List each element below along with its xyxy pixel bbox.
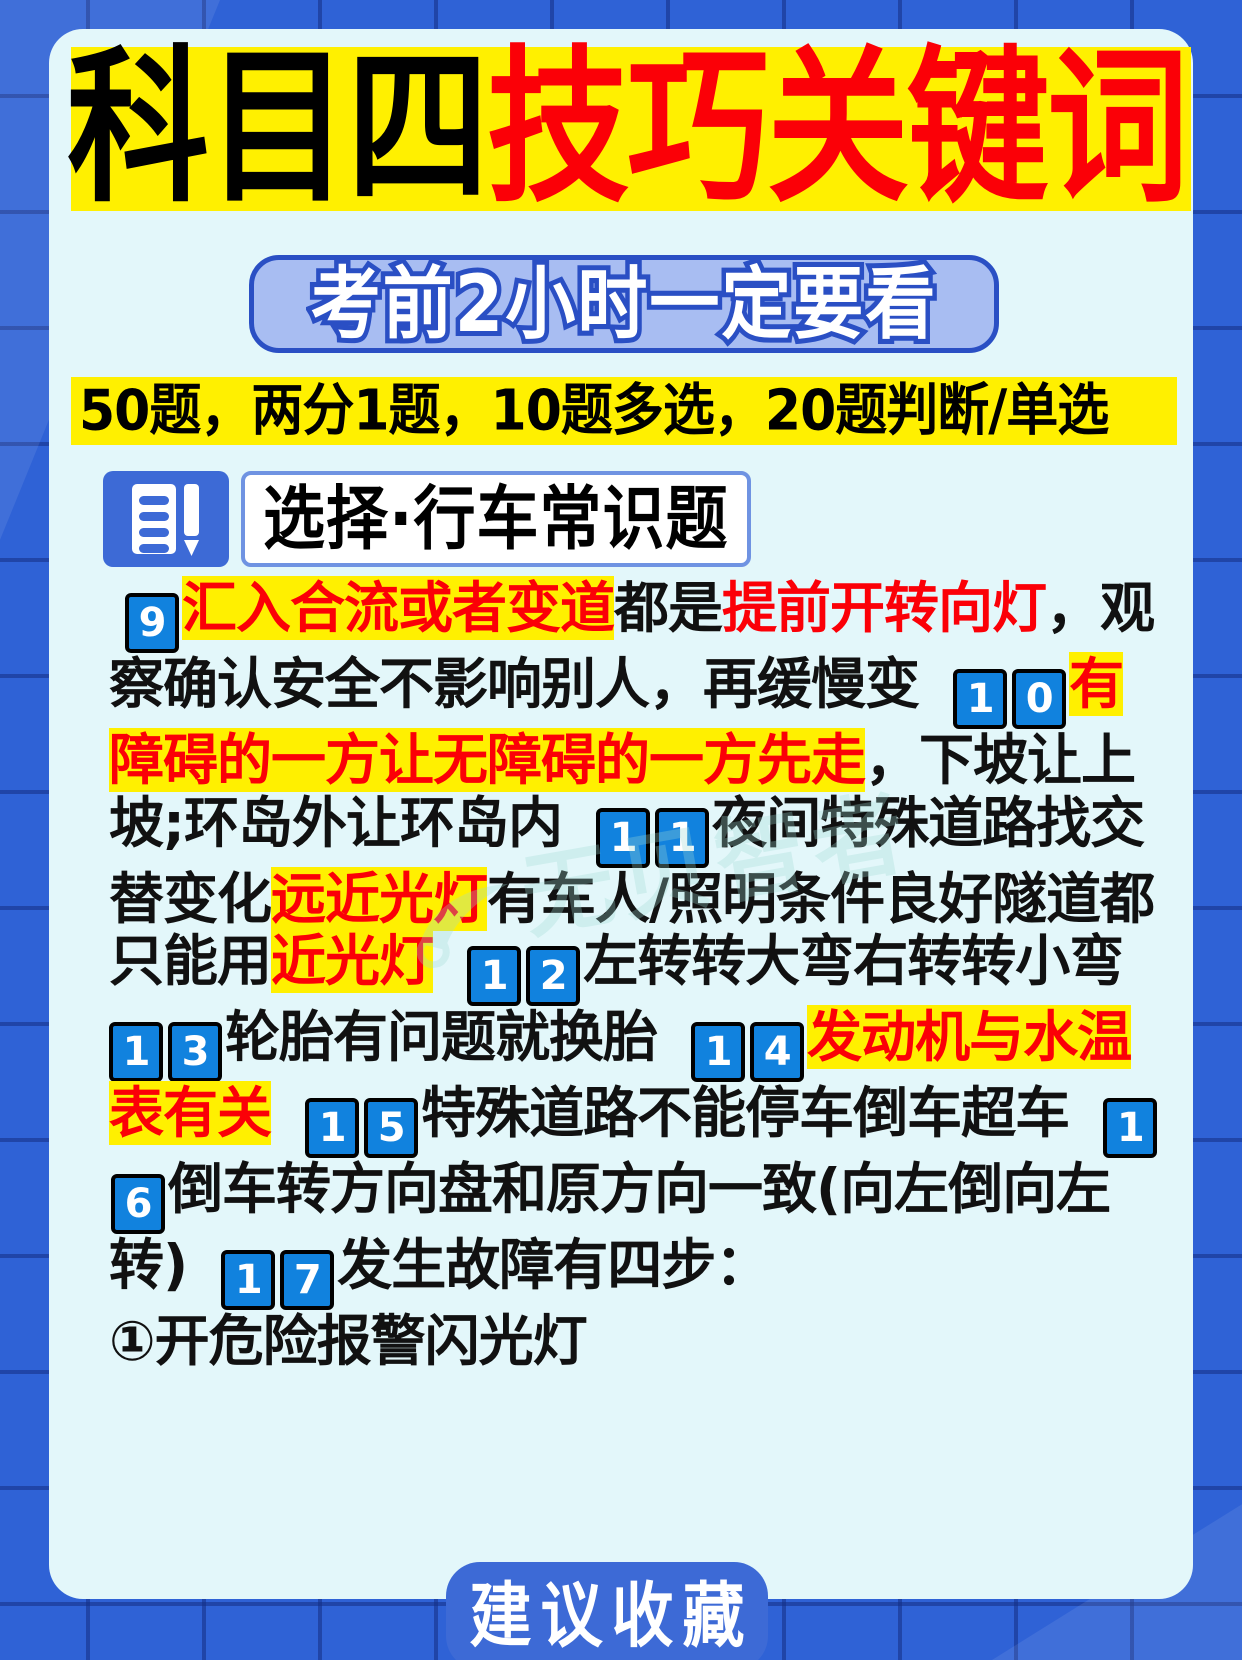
tip-text-segment: 近光灯 (271, 929, 433, 993)
item-number-badge: 1 (305, 1098, 359, 1158)
section-title-text: 选择·行车常识题 (263, 484, 729, 553)
item-number-badge: 1 (221, 1250, 275, 1310)
item-number-badge: 9 (125, 593, 179, 653)
poster-title: 科目四技巧关键词 (71, 47, 1191, 211)
tip-text-segment: 轮胎有问题就换胎 (225, 1005, 657, 1069)
subtitle-text: 考前2小时一定要看 (311, 265, 938, 343)
title-subject: 科目四 (67, 45, 487, 213)
tip-text-segment: 特殊道路不能停车倒车超车 (421, 1081, 1069, 1145)
item-number-badge: 4 (750, 1022, 804, 1082)
tips-paragraph: 9汇入合流或者变道都是提前开转向灯，观察确认安全不影响别人，再缓慢变 10有障碍… (109, 577, 1174, 1373)
tip-text-segment: 发生故障有四步： (337, 1233, 769, 1297)
save-suggestion-button[interactable]: 建议收藏 (446, 1562, 768, 1660)
save-suggestion-label: 建议收藏 (469, 1581, 753, 1652)
item-number-badge: 1 (596, 808, 650, 868)
tip-text-segment: ①开危险报警闪光灯 (109, 1309, 587, 1373)
content-card: 科目四技巧关键词 考前2小时一定要看 50题，两分1题，10题多选，20题判断/… (49, 29, 1193, 1599)
tips-list: 9汇入合流或者变道都是提前开转向灯，观察确认安全不影响别人，再缓慢变 10有障碍… (109, 577, 1174, 1373)
section-header: 选择·行车常识题 (103, 471, 751, 567)
item-number-badge: 2 (526, 946, 580, 1006)
item-number-badge: 6 (111, 1174, 165, 1234)
tip-text-segment: 远近光灯 (271, 867, 487, 931)
tip-text-segment: 提前开转向灯 (722, 576, 1046, 640)
title-keyword: 技巧关键词 (487, 45, 1187, 213)
item-number-badge: 1 (467, 946, 521, 1006)
exam-stats-band: 50题，两分1题，10题多选，20题判断/单选 (71, 377, 1177, 445)
item-number-badge: 5 (364, 1098, 418, 1158)
tip-text-segment: 汇入合流或者变道 (182, 576, 614, 640)
section-title-box: 选择·行车常识题 (241, 471, 751, 567)
item-number-badge: 1 (953, 669, 1007, 729)
exam-stats-text: 50题，两分1题，10题多选，20题判断/单选 (79, 383, 1108, 439)
item-number-badge: 1 (109, 1022, 163, 1082)
poster-root: 科目四技巧关键词 考前2小时一定要看 50题，两分1题，10题多选，20题判断/… (0, 0, 1242, 1660)
subtitle-pill: 考前2小时一定要看 (249, 255, 999, 353)
tip-text-segment: 左转转大弯右转转小弯 (583, 929, 1123, 993)
item-number-badge: 7 (280, 1250, 334, 1310)
item-number-badge: 3 (168, 1022, 222, 1082)
item-number-badge: 1 (1103, 1098, 1157, 1158)
item-number-badge: 1 (691, 1022, 745, 1082)
item-number-badge: 0 (1012, 669, 1066, 729)
notepad-pencil-icon (103, 471, 229, 567)
item-number-badge: 1 (655, 808, 709, 868)
tip-text-segment: 都是 (614, 576, 722, 640)
